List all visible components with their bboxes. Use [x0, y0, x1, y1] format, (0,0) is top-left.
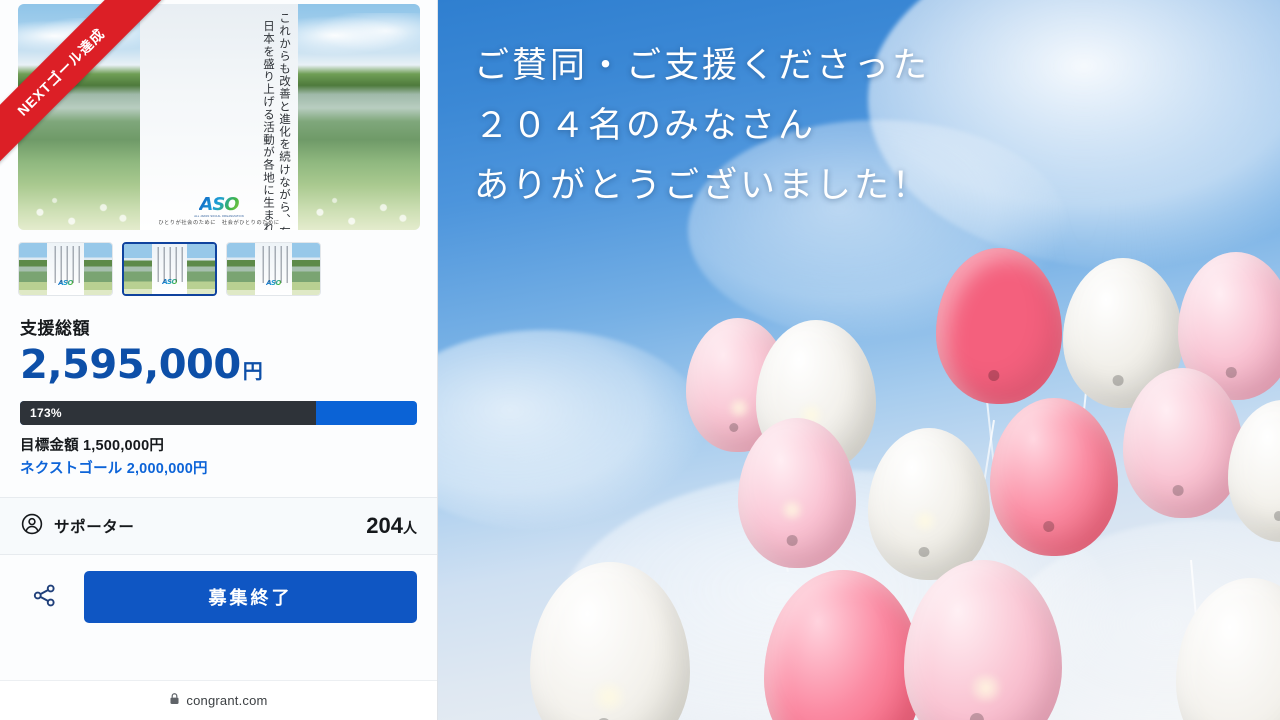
balloon-white-mid-2 — [868, 428, 990, 580]
cta-button-closed[interactable]: 募集終了 — [84, 571, 417, 623]
thumb2-photo-left — [124, 244, 152, 294]
balloon-gloss-6 — [966, 674, 1006, 702]
hero-vertical-line-2: 日本を盛り上げる活動が各地に生まれてほしい！ — [262, 10, 276, 190]
thumbnail-2[interactable]: ASO — [122, 242, 217, 296]
action-bar: 募集終了 — [0, 555, 437, 623]
thumb1-center: ASO — [47, 243, 84, 295]
thumb2-center: ASO — [152, 244, 187, 294]
total-raised-row: 2,595,000 円 — [20, 345, 417, 385]
balloon-gloss-5 — [588, 682, 630, 712]
next-goal-amount-label: ネクストゴール 2,000,000円 — [20, 458, 417, 481]
thumbnail-1[interactable]: ASO — [18, 242, 113, 296]
campaign-detail-panel: これからも改善と進化を続けながら、存続していきたい！ 日本を盛り上げる活動が各地… — [0, 0, 438, 720]
screenshot-root: これからも改善と進化を続けながら、存続していきたい！ 日本を盛り上げる活動が各地… — [0, 0, 1280, 720]
supporters-left: サポーター — [20, 512, 135, 541]
campaign-hero-image[interactable]: これからも改善と進化を続けながら、存続していきたい！ 日本を盛り上げる活動が各地… — [18, 4, 420, 230]
hero-tagline: ひとりが社会のために 社会がひとりのために — [158, 219, 279, 226]
thumb3-center: ASO — [255, 243, 292, 295]
total-raised-label: 支援総額 — [20, 314, 417, 339]
thumb1-photo-left — [19, 243, 47, 295]
hero-photo-left — [18, 4, 140, 230]
hero-vertical-text: これからも改善と進化を続けながら、存続していきたい！ 日本を盛り上げる活動が各地… — [146, 10, 292, 190]
progress-bar-fill — [20, 401, 316, 425]
thumb1-photo-right — [84, 243, 112, 295]
thumb3-text-lines — [259, 246, 288, 283]
thumbnail-strip: ASO ASO ASO — [18, 242, 437, 296]
balloon-gloss-1 — [726, 398, 752, 418]
supporters-label: サポーター — [54, 515, 135, 537]
user-circle-icon — [20, 512, 44, 541]
total-raised-currency: 円 — [243, 355, 263, 384]
headline-line-3: ありがとうございました！ — [474, 156, 930, 216]
goal-amount-label: 目標金額 1,500,000円 — [20, 435, 417, 458]
supporters-count: 204人 — [366, 513, 417, 539]
lock-icon — [169, 692, 180, 710]
balloon-pink-mid-2 — [990, 398, 1118, 556]
balloon-gloss-3 — [778, 500, 806, 520]
thumb1-text-lines — [51, 246, 80, 283]
headline-line-1: ご賛同・ご支援くださった — [474, 36, 930, 96]
headline-line-2: ２０４名のみなさん — [474, 96, 930, 156]
thankyou-balloon-image: ご賛同・ご支援くださった ２０４名のみなさん ありがとうございました！ — [438, 0, 1280, 720]
funding-stats: 支援総額 2,595,000 円 — [0, 296, 437, 385]
hero-image-inner: これからも改善と進化を続けながら、存続していきたい！ 日本を盛り上げる活動が各地… — [18, 4, 420, 230]
hero-logo-area: ASO ALL JAPAN SOCIAL ORGANIZATION ひとりが社会… — [140, 196, 298, 226]
share-icon — [31, 582, 58, 612]
supporters-row[interactable]: サポーター 204人 — [0, 497, 437, 555]
thumb2-photo-right — [187, 244, 215, 294]
thumb3-photo-right — [292, 243, 320, 295]
progress-percent-label: 173% — [30, 406, 62, 420]
supporters-count-value: 204 — [366, 513, 403, 538]
hero-photo-right — [298, 4, 420, 230]
thumb2-text-lines — [156, 247, 183, 282]
url-domain: congrant.com — [186, 693, 267, 708]
hero-vertical-line-1: これからも改善と進化を続けながら、存続していきたい！ — [278, 10, 292, 190]
thumbnail-3[interactable]: ASO — [226, 242, 321, 296]
share-button[interactable] — [18, 572, 70, 622]
thankyou-headline: ご賛同・ご支援くださった ２０４名のみなさん ありがとうございました！ — [474, 36, 930, 217]
supporters-count-unit: 人 — [403, 520, 417, 536]
hero-center-panel: これからも改善と進化を続けながら、存続していきたい！ 日本を盛り上げる活動が各地… — [140, 4, 298, 230]
aso-logo-subtitle: ALL JAPAN SOCIAL ORGANIZATION — [194, 215, 244, 218]
browser-url-bar[interactable]: congrant.com — [0, 680, 437, 720]
balloon-gloss-4 — [910, 510, 940, 532]
total-raised-amount: 2,595,000 — [20, 345, 241, 385]
funding-progress-bar: 173% — [20, 401, 417, 425]
aso-logo-icon: ASO — [199, 196, 238, 214]
goal-amounts: 目標金額 1,500,000円 ネクストゴール 2,000,000円 — [0, 425, 437, 481]
thumb3-photo-left — [227, 243, 255, 295]
